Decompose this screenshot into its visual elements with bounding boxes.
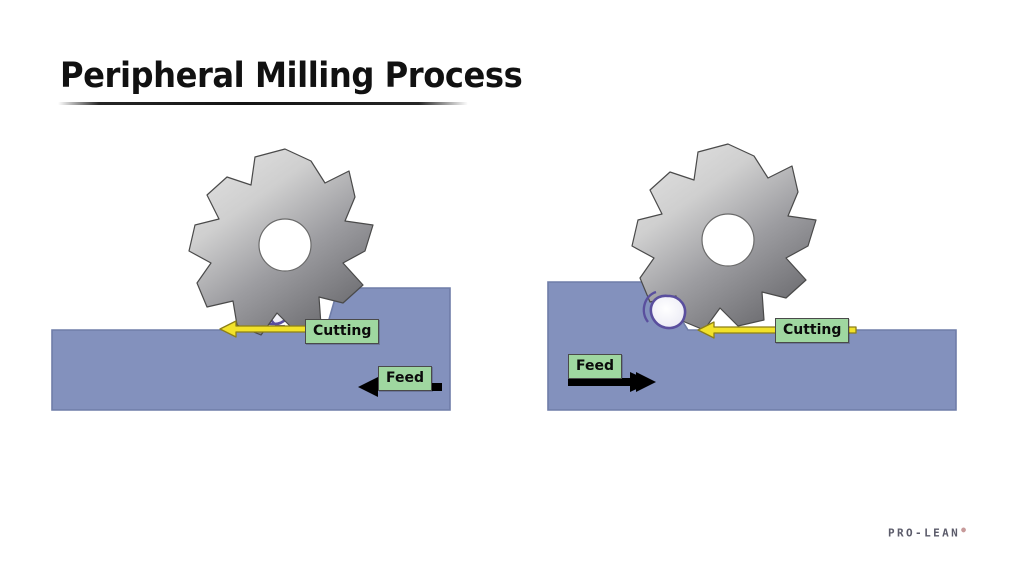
diagram-climb-milling (538, 140, 978, 430)
registered-mark-icon: ● (961, 525, 966, 534)
slide-canvas: Peripheral Milling Process (0, 0, 1024, 576)
brand-logo: PRO-LEAN● (888, 525, 966, 540)
brand-logo-text: PRO-LEAN (888, 527, 960, 540)
label-feed-left: Feed (378, 366, 432, 391)
title-underline (58, 102, 468, 105)
label-cutting-right: Cutting (775, 318, 849, 343)
label-cutting-left: Cutting (305, 319, 379, 344)
label-feed-right: Feed (568, 354, 622, 379)
page-title-text: Peripheral Milling Process (60, 58, 446, 95)
page-title: Peripheral Milling Process (60, 58, 480, 95)
